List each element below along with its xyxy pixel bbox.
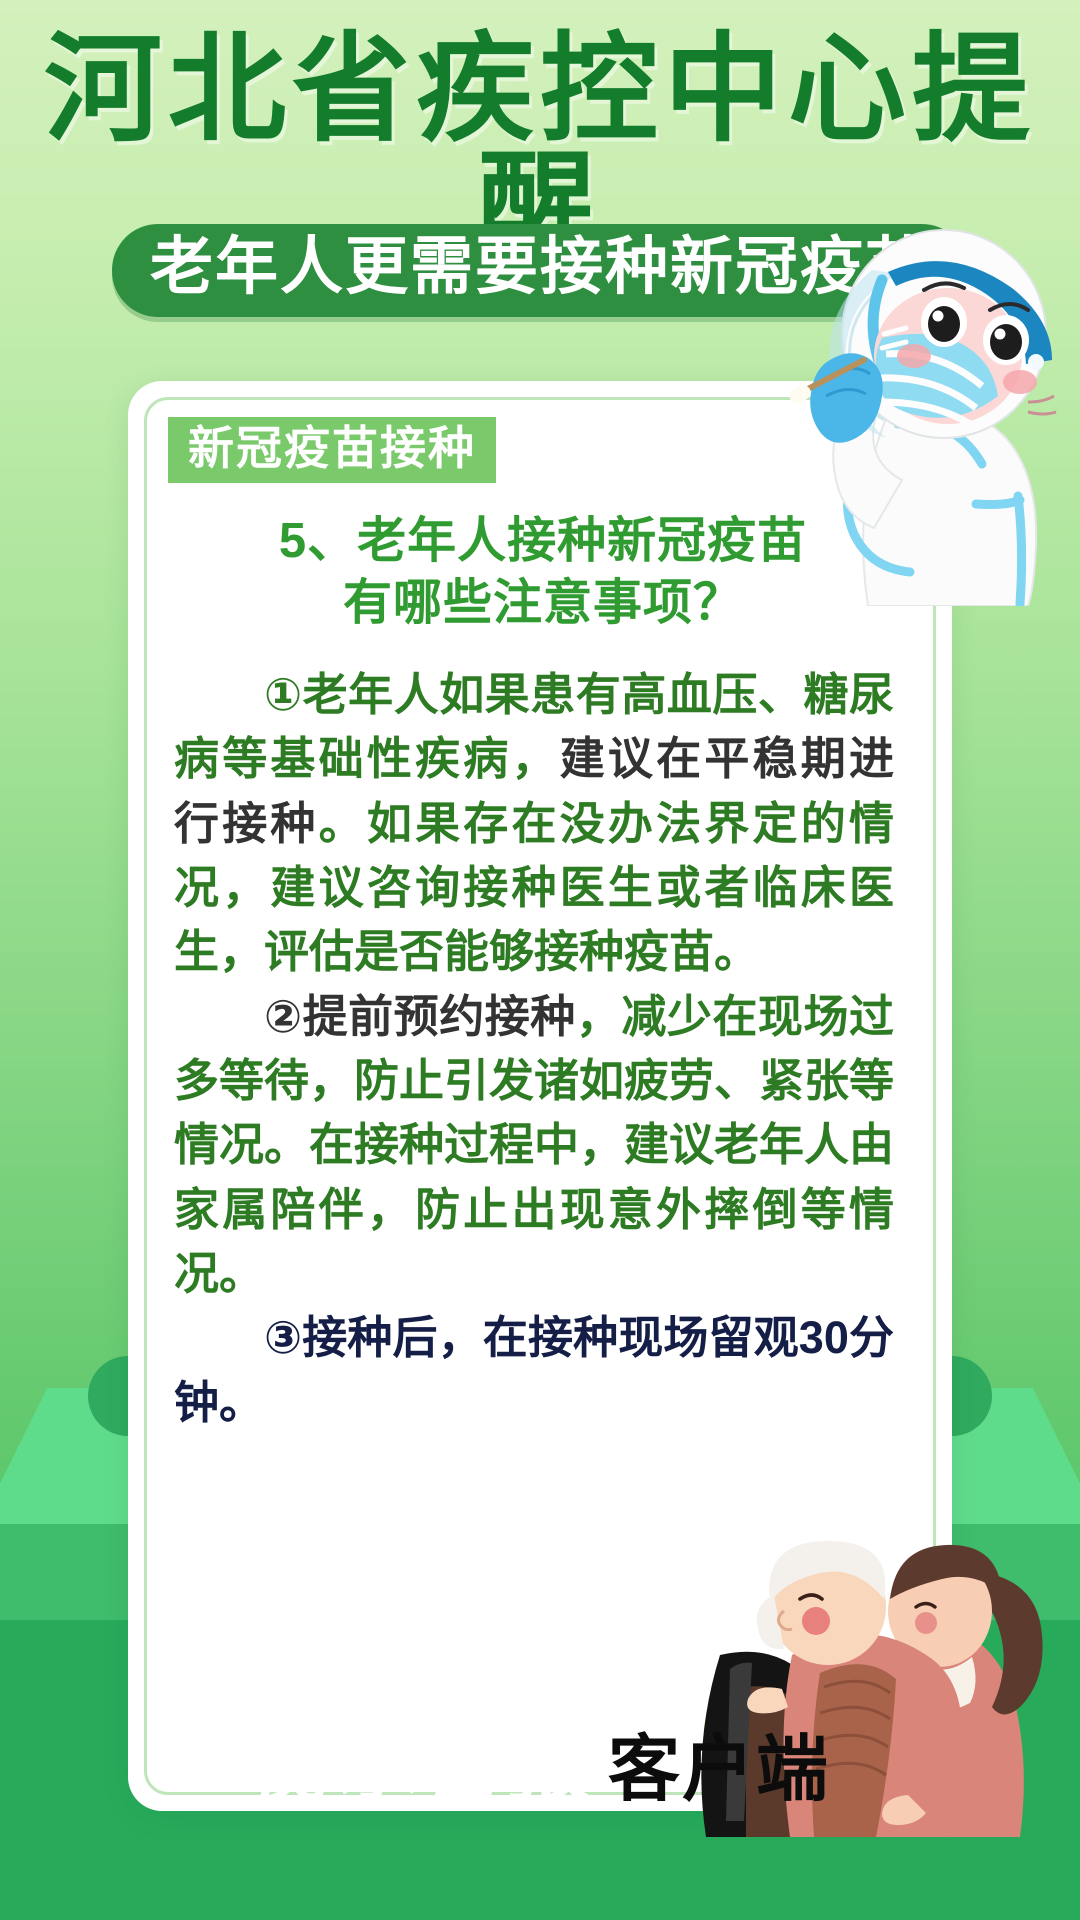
answer-paragraph-2: ②提前预约接种，减少在现场过多等待，防止引发诸如疲劳、紧张等情况。在接种过程中，…	[174, 985, 894, 1307]
card-category-tag: 新冠疫苗接种	[168, 417, 496, 483]
brand-app-suffix: 客户端	[608, 1730, 830, 1810]
answer-paragraph-3: ③接种后，在接种现场留观30分钟。	[174, 1306, 894, 1435]
brand-newspaper-name: 衡水日报	[250, 1721, 594, 1812]
poster-root: 河北省疾控中心提醒 老年人更需要接种新冠疫苗 新冠疫苗接种 5、老年人接种新冠疫…	[0, 0, 1080, 1920]
answer-text-run-0: ②提前预约接种	[264, 991, 576, 1042]
answer-paragraph-1: ①老年人如果患有高血压、糖尿病等基础性疾病，建议在平稳期进行接种。如果存在没办法…	[174, 663, 894, 985]
answer-body: ①老年人如果患有高血压、糖尿病等基础性疾病，建议在平稳期进行接种。如果存在没办法…	[174, 663, 894, 1435]
footer-brand: 衡水日报客户端	[0, 1726, 1080, 1808]
answer-text-run-0: ③接种后，在接种现场留观30分钟。	[174, 1312, 894, 1427]
medical-worker-ppe-swab-illustration	[676, 206, 1076, 606]
